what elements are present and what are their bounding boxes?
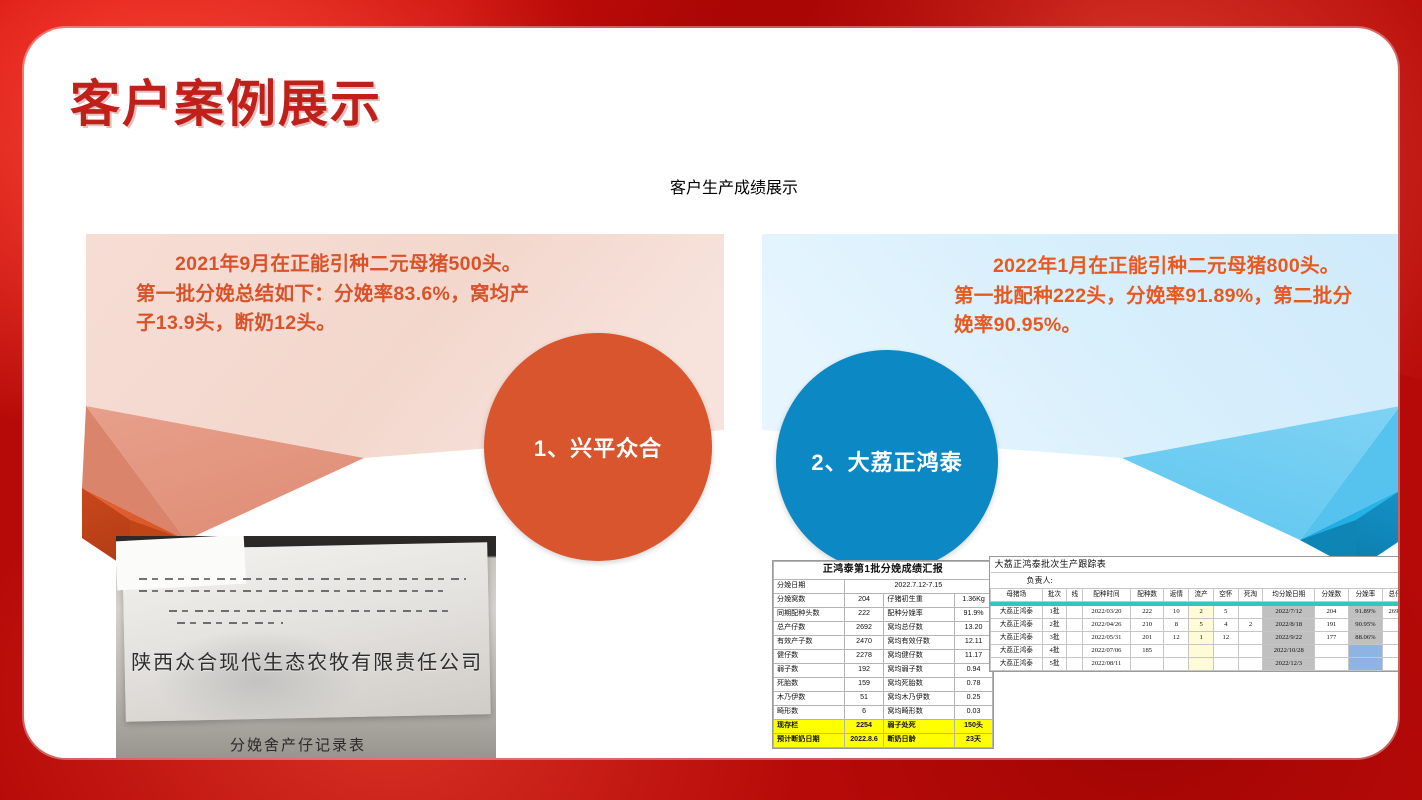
column-header: 死淘 xyxy=(1238,589,1263,602)
table-row: 有效产子数2470窝均有效仔数12.11 xyxy=(774,635,993,649)
cell-value: 192 xyxy=(844,663,884,677)
section-subtitle: 客户生产成绩展示 xyxy=(564,174,904,198)
cell-value xyxy=(1067,619,1083,632)
table-row: 同期配种头数222配种分娩率91.9% xyxy=(774,607,993,621)
cell-value: 11.17 xyxy=(955,649,993,663)
cell-value xyxy=(1130,658,1164,671)
cell-value: 2022/05/31 xyxy=(1083,632,1131,645)
table-row: 负责人: xyxy=(991,573,1399,589)
cell-label: 窝均死胎数 xyxy=(884,677,955,691)
cell-value xyxy=(1238,658,1263,671)
cell-value xyxy=(1067,632,1083,645)
cell-value: 2022/7/12 xyxy=(1263,606,1315,619)
cell-value: 2692 xyxy=(1383,606,1398,619)
table-row: 弱子数192窝均弱子数0.94 xyxy=(774,663,993,677)
cell-label: 配种分娩率 xyxy=(884,607,955,621)
cell-label: 有效产子数 xyxy=(774,635,845,649)
photo-blur-spot xyxy=(154,629,363,732)
cell-label: 仔猪初生重 xyxy=(884,593,955,607)
cell-label: 分娩窝数 xyxy=(774,593,845,607)
table-row: 畸形数6窝均畸形数0.03 xyxy=(774,705,993,719)
handwriting-line-3 xyxy=(169,610,450,612)
table-row: 大荔正鸿泰2批2022/04/2621085422022/8/1819190.9… xyxy=(991,619,1399,632)
cell-value: 0.94 xyxy=(955,663,993,677)
table-row: 总产仔数2692窝均总仔数13.20 xyxy=(774,621,993,635)
table-title: 大荔正鸿泰批次生产跟踪表 xyxy=(991,557,1399,573)
case-circle-dali[interactable]: 2、大荔正鸿泰 xyxy=(776,350,998,572)
handwriting-line-2 xyxy=(139,590,443,592)
table-header-row: 母猪场批次线配种时间配种数返情流产空怀死淘均分娩日期分娩数分娩率总仔 xyxy=(991,589,1399,602)
cell-value: 5 xyxy=(1189,619,1214,632)
column-header: 均分娩日期 xyxy=(1263,589,1315,602)
cell-value: 大荔正鸿泰 xyxy=(991,632,1043,645)
table-row: 正鸿泰第1批分娩成绩汇报 xyxy=(774,562,993,580)
cell-value: 12 xyxy=(1164,632,1189,645)
cell-value: 2254 xyxy=(844,719,884,733)
cell-value: 13.20 xyxy=(955,621,993,635)
handwriting-line-4 xyxy=(177,622,283,624)
cell-value: 204 xyxy=(844,593,884,607)
cell-value xyxy=(1348,645,1382,658)
cell-label: 现存栏 xyxy=(774,719,845,733)
cell-value: 2022.8.6 xyxy=(844,733,884,747)
cell-value xyxy=(1383,619,1398,632)
cell-value: 91.89% xyxy=(1348,606,1382,619)
cell-value: 1 xyxy=(1189,632,1214,645)
cell-value: 2022/8/18 xyxy=(1263,619,1315,632)
cell-label: 窝均健仔数 xyxy=(884,649,955,663)
section-subtitle-wrap: 客户生产成绩展示 xyxy=(564,174,904,198)
cell-value xyxy=(1315,658,1349,671)
table-title: 正鸿泰第1批分娩成绩汇报 xyxy=(774,562,993,580)
cell-value: 大荔正鸿泰 xyxy=(991,658,1043,671)
cell-label: 总产仔数 xyxy=(774,621,845,635)
cell-label: 断奶日龄 xyxy=(884,733,955,747)
cell-value xyxy=(1189,645,1214,658)
table-farrowing-summary: 正鸿泰第1批分娩成绩汇报分娩日期2022.7.12-7.15分娩窝数204仔猪初… xyxy=(772,560,994,749)
cell-label: 弱子处死 xyxy=(884,719,955,733)
cell-value xyxy=(1213,645,1238,658)
cell-value xyxy=(1067,606,1083,619)
cell-value: 2470 xyxy=(844,635,884,649)
table-batch-tracking-grid: 大荔正鸿泰批次生产跟踪表负责人:母猪场批次线配种时间配种数返情流产空怀死淘均分娩… xyxy=(990,557,1398,671)
column-header: 分娩率 xyxy=(1348,589,1382,602)
cell-value: 8 xyxy=(1164,619,1189,632)
callout-left-text: 2021年9月在正能引种二元母猪500头。第一批分娩总结如下：分娩率83.6%，… xyxy=(136,250,536,339)
column-header: 流产 xyxy=(1189,589,1214,602)
cell-value xyxy=(1067,645,1083,658)
cell-value: 12.11 xyxy=(955,635,993,649)
table-row: 分娩窝数204仔猪初生重1.36Kg xyxy=(774,593,993,607)
cell-value: 2 xyxy=(1189,606,1214,619)
cell-value: 5批 xyxy=(1042,658,1067,671)
column-header: 配种数 xyxy=(1130,589,1164,602)
cell-value: 2022/08/11 xyxy=(1083,658,1131,671)
column-header: 母猪场 xyxy=(991,589,1043,602)
slide-card: 客户案例展示 客户生产成绩展示 xyxy=(24,28,1398,758)
cell-value xyxy=(1164,658,1189,671)
cell-value: 6 xyxy=(844,705,884,719)
cell-value: 23天 xyxy=(955,733,993,747)
cell-value xyxy=(1383,645,1398,658)
cell-label: 畸形数 xyxy=(774,705,845,719)
cell-value: 2 xyxy=(1238,619,1263,632)
farrowing-record-photo: 陕西众合现代生态农牧有限责任公司 分娩舍产仔记录表 xyxy=(116,536,496,758)
cell-value: 191 xyxy=(1315,619,1349,632)
cell-label: 窝均有效仔数 xyxy=(884,635,955,649)
cell-value: 1.36Kg xyxy=(955,593,993,607)
callout-right-text: 2022年1月在正能引种二元母猪800头。第一批配种222头，分娩率91.89%… xyxy=(954,252,1354,341)
cell-value: 大荔正鸿泰 xyxy=(991,606,1043,619)
cell-label: 同期配种头数 xyxy=(774,607,845,621)
cell-value: 10 xyxy=(1164,606,1189,619)
cell-value: 大荔正鸿泰 xyxy=(991,645,1043,658)
case-circle-dali-label: 2、大荔正鸿泰 xyxy=(811,445,962,477)
table-row: 大荔正鸿泰4批2022/07/061852022/10/28 xyxy=(991,645,1399,658)
photo-paper-sheet-corner xyxy=(116,536,246,591)
table-row: 大荔正鸿泰批次生产跟踪表 xyxy=(991,557,1399,573)
table-row: 大荔正鸿泰3批2022/05/31201121122022/9/2217788.… xyxy=(991,632,1399,645)
cell-label: 窝均总仔数 xyxy=(884,621,955,635)
cell-value xyxy=(1383,658,1398,671)
cell-value: 201 xyxy=(1130,632,1164,645)
table-farrowing-summary-grid: 正鸿泰第1批分娩成绩汇报分娩日期2022.7.12-7.15分娩窝数204仔猪初… xyxy=(773,561,993,748)
cell-value: 150头 xyxy=(955,719,993,733)
cell-value: 2022/07/06 xyxy=(1083,645,1131,658)
cell-value: 51 xyxy=(844,691,884,705)
cell-value: 2022/9/22 xyxy=(1263,632,1315,645)
table-batch-tracking: 大荔正鸿泰批次生产跟踪表负责人:母猪场批次线配种时间配种数返情流产空怀死淘均分娩… xyxy=(989,556,1398,672)
table-row: 健仔数2278窝均健仔数11.17 xyxy=(774,649,993,663)
column-header: 分娩数 xyxy=(1315,589,1349,602)
cell-value xyxy=(1189,658,1214,671)
table-row: 大荔正鸿泰5批2022/08/112022/12/3 xyxy=(991,658,1399,671)
table-row: 死胎数159窝均死胎数0.78 xyxy=(774,677,993,691)
column-header: 返情 xyxy=(1164,589,1189,602)
column-header: 总仔 xyxy=(1383,589,1398,602)
cell-value: 2022.7.12-7.15 xyxy=(844,579,992,593)
cell-value: 2692 xyxy=(844,621,884,635)
cell-value: 159 xyxy=(844,677,884,691)
cell-value xyxy=(1348,658,1382,671)
cell-value: 2022/12/3 xyxy=(1263,658,1315,671)
table-row: 大荔正鸿泰1批2022/03/2022210252022/7/1220491.8… xyxy=(991,606,1399,619)
case-circle-xingping-label: 1、兴平众合 xyxy=(534,431,662,463)
column-header: 线 xyxy=(1067,589,1083,602)
cell-value: 3批 xyxy=(1042,632,1067,645)
cell-value: 5 xyxy=(1213,606,1238,619)
cell-value: 12 xyxy=(1213,632,1238,645)
cell-value xyxy=(1315,645,1349,658)
photo-caption: 分娩舍产仔记录表 xyxy=(230,734,366,755)
owner-label: 负责人: xyxy=(991,573,1399,589)
cell-value: 90.95% xyxy=(1348,619,1382,632)
photo-company-name: 陕西众合现代生态农牧有限责任公司 xyxy=(131,646,481,675)
table-row: 分娩日期2022.7.12-7.15 xyxy=(774,579,993,593)
cell-value: 91.9% xyxy=(955,607,993,621)
table-row: 木乃伊数51窝均木乃伊数0.25 xyxy=(774,691,993,705)
cell-value: 4批 xyxy=(1042,645,1067,658)
cell-label: 木乃伊数 xyxy=(774,691,845,705)
cell-value: 4 xyxy=(1213,619,1238,632)
cell-label: 死胎数 xyxy=(774,677,845,691)
column-header: 配种时间 xyxy=(1083,589,1131,602)
cell-label: 预计断奶日期 xyxy=(774,733,845,747)
cell-label: 弱子数 xyxy=(774,663,845,677)
table-row: 现存栏2254弱子处死150头 xyxy=(774,719,993,733)
cell-value: 177 xyxy=(1315,632,1349,645)
cell-value: 222 xyxy=(1130,606,1164,619)
cell-value: 2批 xyxy=(1042,619,1067,632)
cell-value xyxy=(1238,645,1263,658)
cell-value xyxy=(1383,632,1398,645)
cell-value xyxy=(1238,606,1263,619)
table-row: 预计断奶日期2022.8.6断奶日龄23天 xyxy=(774,733,993,747)
cell-value xyxy=(1238,632,1263,645)
column-header: 空怀 xyxy=(1213,589,1238,602)
cell-value: 2022/10/28 xyxy=(1263,645,1315,658)
cell-value: 88.06% xyxy=(1348,632,1382,645)
cell-value xyxy=(1164,645,1189,658)
column-header: 批次 xyxy=(1042,589,1067,602)
handwriting-line-1 xyxy=(139,578,466,580)
cell-label: 窝均弱子数 xyxy=(884,663,955,677)
cell-value: 0.03 xyxy=(955,705,993,719)
cell-value: 210 xyxy=(1130,619,1164,632)
cell-value: 0.78 xyxy=(955,677,993,691)
cell-value: 1批 xyxy=(1042,606,1067,619)
cell-value: 2022/03/20 xyxy=(1083,606,1131,619)
cell-label: 窝均畸形数 xyxy=(884,705,955,719)
cell-value: 204 xyxy=(1315,606,1349,619)
cell-value: 0.25 xyxy=(955,691,993,705)
cell-value: 185 xyxy=(1130,645,1164,658)
cell-value: 2022/04/26 xyxy=(1083,619,1131,632)
cell-label: 分娩日期 xyxy=(774,579,845,593)
case-circle-xingping[interactable]: 1、兴平众合 xyxy=(484,333,712,561)
cell-label: 健仔数 xyxy=(774,649,845,663)
cell-value xyxy=(1067,658,1083,671)
cell-value: 2278 xyxy=(844,649,884,663)
slide-root: 客户案例展示 客户生产成绩展示 xyxy=(0,0,1422,800)
cell-value xyxy=(1213,658,1238,671)
cell-value: 222 xyxy=(844,607,884,621)
page-title: 客户案例展示 xyxy=(70,64,382,136)
cell-value: 大荔正鸿泰 xyxy=(991,619,1043,632)
cell-label: 窝均木乃伊数 xyxy=(884,691,955,705)
